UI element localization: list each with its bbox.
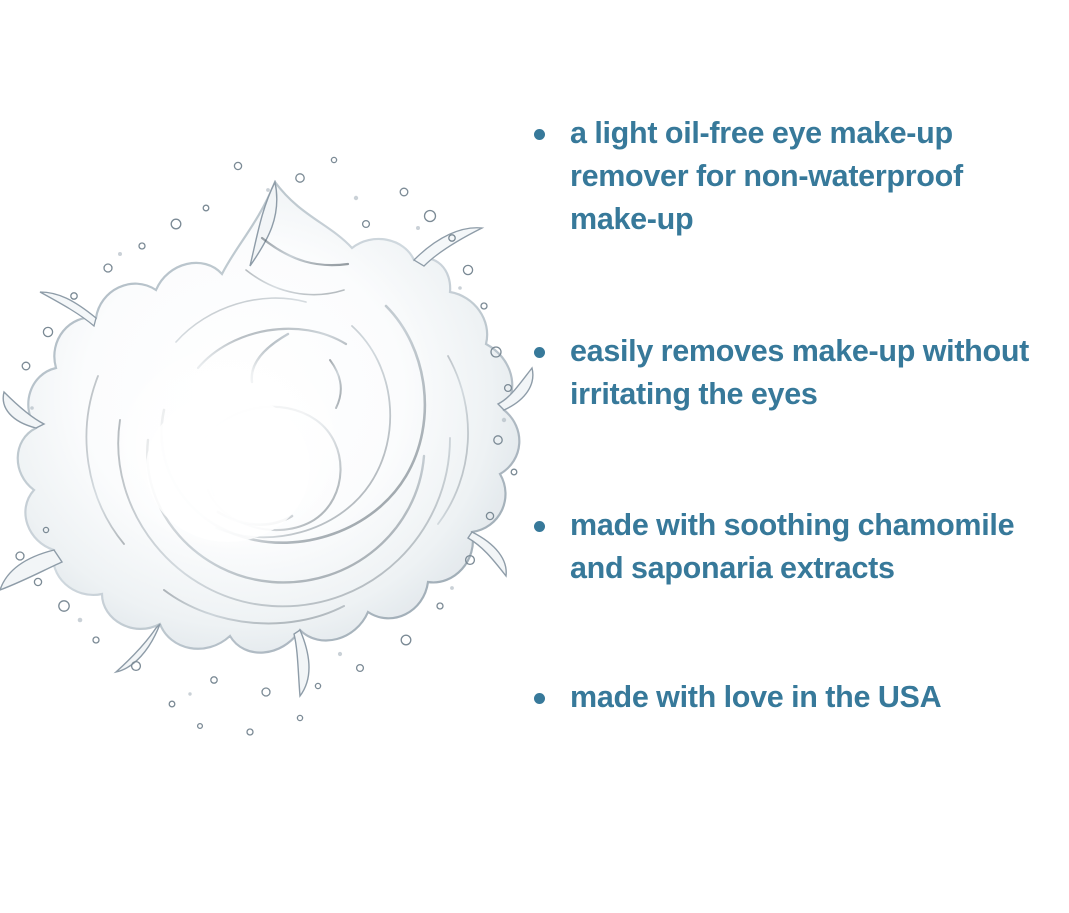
benefit-text: made with love in the USA	[570, 676, 1053, 719]
water-splash-image	[0, 120, 540, 740]
benefit-list-item: made with soothing chamomile and saponar…	[528, 504, 1053, 590]
benefit-list-item: a light oil-free eye make-up remover for…	[528, 112, 1053, 241]
benefit-list-item: easily removes make-up without irritatin…	[528, 330, 1053, 416]
bullet-dot-icon	[534, 129, 545, 140]
benefit-text: easily removes make-up without irritatin…	[570, 330, 1053, 416]
benefits-list: a light oil-free eye make-up remover for…	[528, 112, 1053, 719]
benefit-text: made with soothing chamomile and saponar…	[570, 504, 1053, 590]
product-benefits-page: a light oil-free eye make-up remover for…	[0, 0, 1069, 913]
benefit-list-item: made with love in the USA	[528, 676, 1053, 719]
bullet-dot-icon	[534, 693, 545, 704]
benefit-text: a light oil-free eye make-up remover for…	[570, 112, 1053, 241]
bullet-dot-icon	[534, 347, 545, 358]
bullet-dot-icon	[534, 521, 545, 532]
